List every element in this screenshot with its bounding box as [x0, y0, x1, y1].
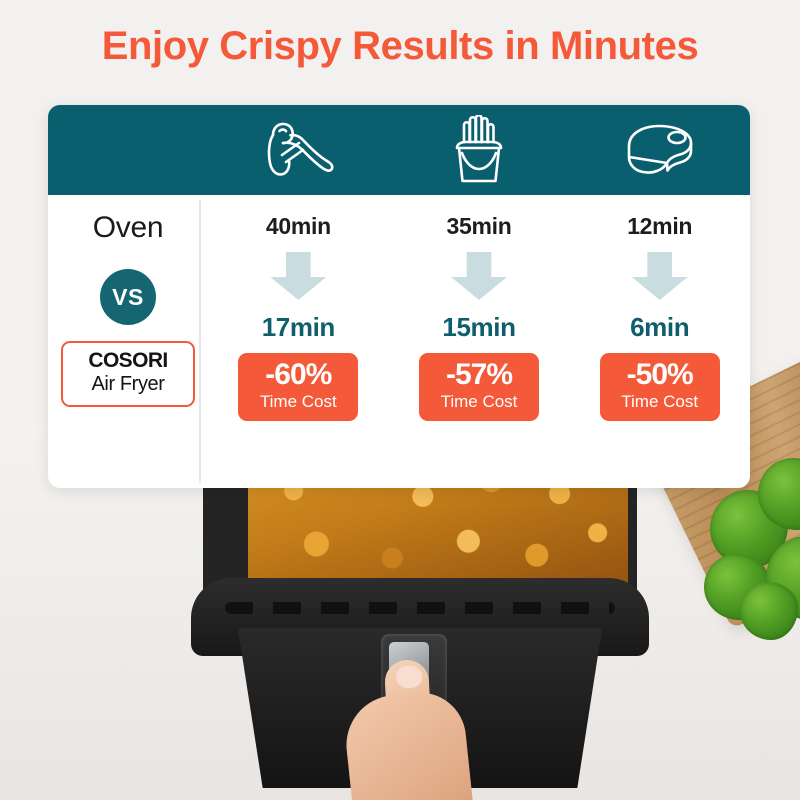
- oven-time: 40min: [266, 213, 331, 240]
- savings-badge: -57% Time Cost: [419, 353, 539, 421]
- savings-caption: Time Cost: [419, 392, 539, 412]
- savings-badge: -60% Time Cost: [238, 353, 358, 421]
- card-header: [48, 105, 750, 195]
- card-body: Oven VS COSORI Air Fryer 40min 17min -60…: [48, 195, 750, 488]
- down-arrow-icon: [270, 252, 326, 300]
- basket-vents: [225, 602, 615, 614]
- vs-label: VS: [112, 284, 144, 311]
- oven-label: Oven: [93, 211, 164, 245]
- comparison-card: Oven VS COSORI Air Fryer 40min 17min -60…: [48, 105, 750, 488]
- savings-percent: -60%: [238, 360, 358, 391]
- down-arrow-icon: [451, 252, 507, 300]
- header-icon-cell-steak: [569, 121, 750, 179]
- oven-time: 35min: [447, 213, 512, 240]
- data-column-chicken: 40min 17min -60% Time Cost: [208, 195, 389, 488]
- hand: [330, 660, 490, 800]
- french-fries-icon: [448, 115, 510, 185]
- label-column: Oven VS COSORI Air Fryer: [48, 195, 208, 488]
- brand-product: Air Fryer: [69, 373, 187, 396]
- data-column-fries: 35min 15min -57% Time Cost: [389, 195, 570, 488]
- down-arrow-icon: [632, 252, 688, 300]
- chicken-wing-icon: [259, 119, 337, 181]
- steak-icon: [622, 121, 698, 179]
- cosori-brand-box: COSORI Air Fryer: [61, 341, 195, 407]
- header-icon-cell-fries: [389, 115, 570, 185]
- savings-caption: Time Cost: [238, 392, 358, 412]
- savings-percent: -57%: [419, 360, 539, 391]
- fryer-time: 6min: [630, 312, 689, 343]
- header-icon-cell-chicken: [208, 119, 389, 181]
- savings-badge: -50% Time Cost: [600, 353, 720, 421]
- fryer-time: 17min: [262, 312, 335, 343]
- savings-caption: Time Cost: [600, 392, 720, 412]
- data-column-steak: 12min 6min -50% Time Cost: [569, 195, 750, 488]
- page-title: Enjoy Crispy Results in Minutes: [0, 24, 800, 69]
- fingernail: [396, 666, 422, 688]
- column-divider: [199, 200, 201, 483]
- palm: [342, 688, 475, 800]
- brand-name: COSORI: [69, 350, 187, 372]
- savings-percent: -50%: [600, 360, 720, 391]
- fryer-time: 15min: [442, 312, 515, 343]
- vs-badge: VS: [100, 269, 156, 325]
- oven-time: 12min: [627, 213, 692, 240]
